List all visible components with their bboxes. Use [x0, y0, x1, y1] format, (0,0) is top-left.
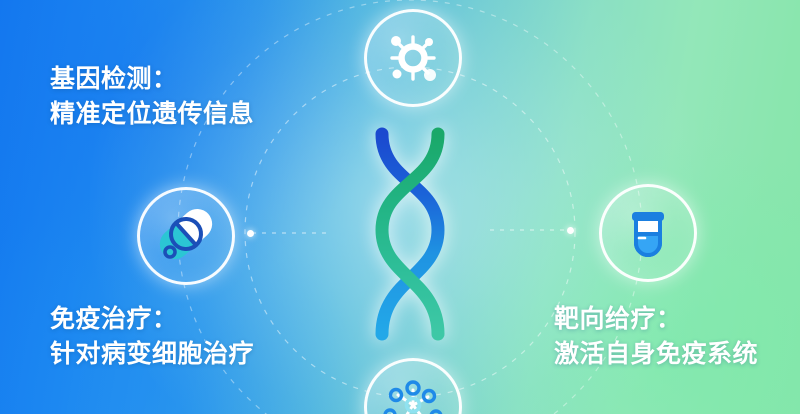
- label-immunotherapy: 免疫治疗： 针对病变细胞治疗: [50, 302, 254, 372]
- icon-bubble-capsule-pill[interactable]: [137, 187, 235, 285]
- label-gene-testing-description: 精准定位遗传信息: [50, 97, 254, 132]
- capsule-pill-icon: [157, 207, 215, 265]
- cell-molecule-icon: [384, 29, 442, 87]
- label-targeted-delivery-description: 激活自身免疫系统: [554, 337, 758, 372]
- label-targeted-delivery: 靶向给疗： 激活自身免疫系统: [554, 302, 758, 372]
- test-tube-icon: [620, 205, 676, 261]
- dna-double-helix: [356, 118, 464, 350]
- label-immunotherapy-description: 针对病变细胞治疗: [50, 337, 254, 372]
- connector-dot-right: [567, 227, 574, 234]
- gene-therapy-infographic: 基因检测： 精准定位遗传信息 免疫治疗： 针对病变细胞治疗 靶向给疗： 激活自身…: [0, 0, 800, 414]
- icon-bubble-cell-molecule[interactable]: [364, 9, 462, 107]
- icon-bubble-test-tube[interactable]: [599, 184, 697, 282]
- label-targeted-delivery-heading: 靶向给疗：: [554, 302, 758, 337]
- label-gene-testing-heading: 基因检测：: [50, 62, 254, 97]
- label-immunotherapy-heading: 免疫治疗：: [50, 302, 254, 337]
- label-gene-testing: 基因检测： 精准定位遗传信息: [50, 62, 254, 132]
- molecule-network-icon: [383, 377, 443, 414]
- connector-dot-left: [247, 230, 254, 237]
